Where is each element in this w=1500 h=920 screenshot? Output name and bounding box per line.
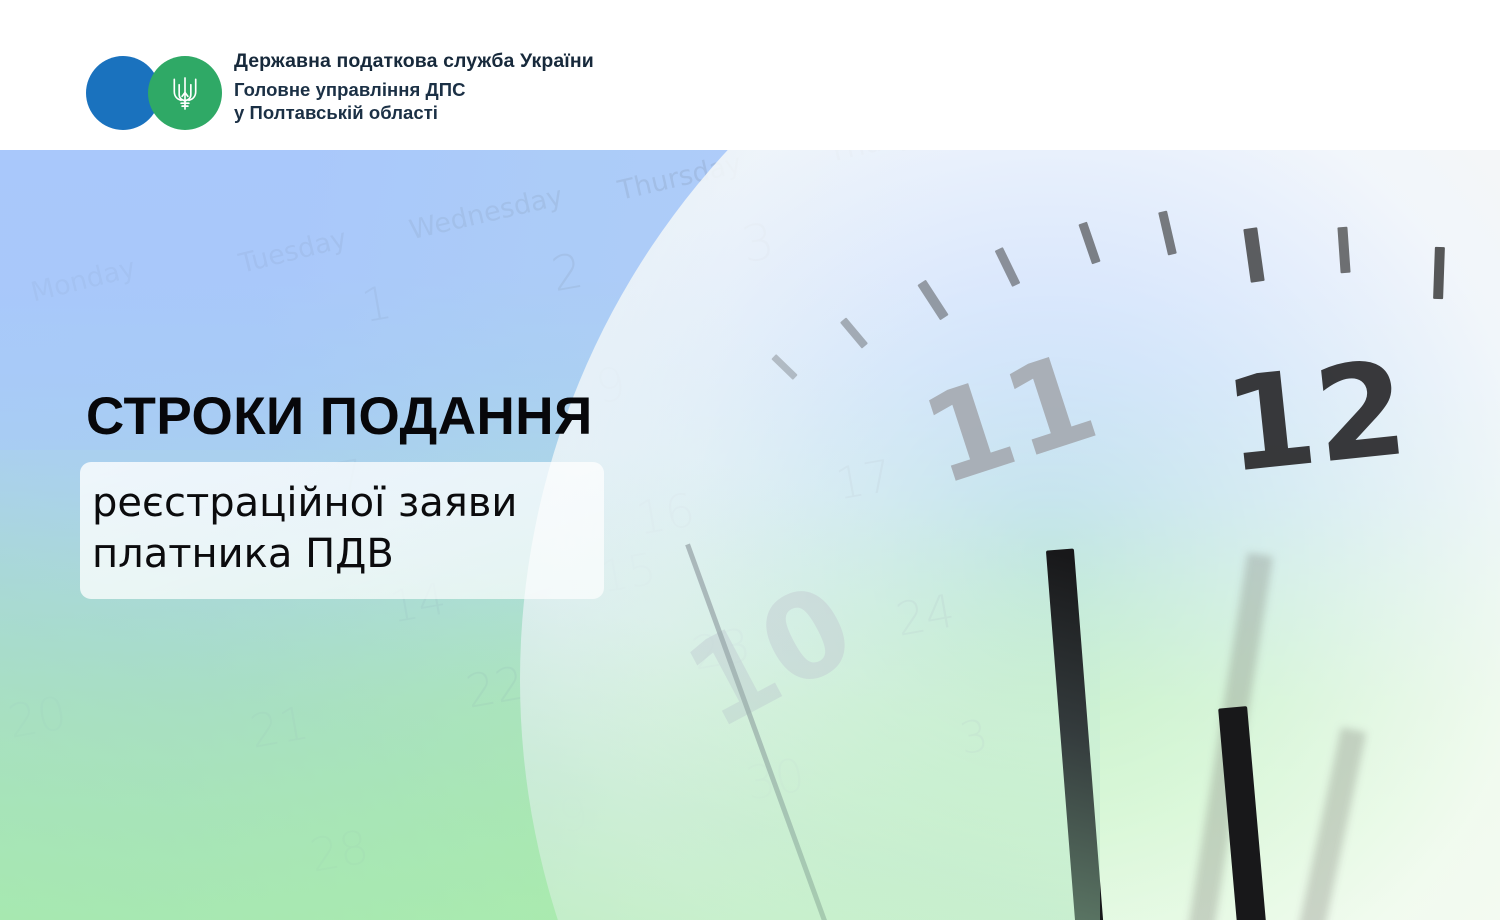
logo-green-circle-icon: [148, 56, 222, 130]
ukraine-trident-icon: [170, 75, 200, 111]
subtitle-line-1: реєстраційної заяви: [92, 478, 612, 529]
subtitle-line-2: платника ПДВ: [92, 529, 612, 580]
organization-logo: [86, 56, 222, 130]
subtitle-text: реєстраційної заяви платника ПДВ: [92, 478, 612, 580]
org-title-line-3: у Полтавській області: [234, 104, 594, 123]
header-bar: Державна податкова служба України Головн…: [0, 0, 1500, 150]
poster-canvas: MondayTuesdayWednesdayThursdayFriday1239…: [0, 0, 1500, 920]
organization-name: Державна податкова служба України Головн…: [234, 52, 594, 123]
org-title-line-2: Головне управління ДПС: [234, 81, 594, 100]
page-title: СТРОКИ ПОДАННЯ: [86, 386, 593, 447]
org-title-line-1: Державна податкова служба України: [234, 52, 594, 72]
